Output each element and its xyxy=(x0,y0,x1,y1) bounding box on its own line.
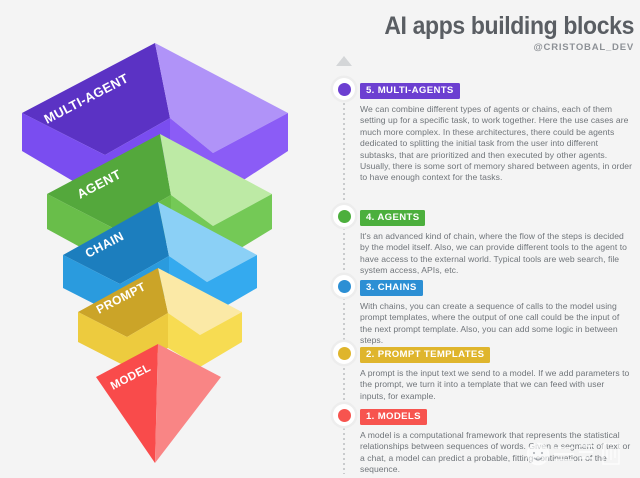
timeline-node-3[interactable] xyxy=(333,275,355,297)
section-badge-models[interactable]: 1. MODELS xyxy=(360,409,427,426)
section-badge-chains[interactable]: 3. CHAINS xyxy=(360,280,423,297)
section-badge-multi-agents[interactable]: 5. MULTI-AGENTS xyxy=(360,83,460,100)
infographic-root: MULTI-AGENT AGENT CHAIN xyxy=(0,0,640,478)
section-chains: 3. CHAINS With chains, you can create a … xyxy=(360,277,632,347)
page-title: AI apps building blocks xyxy=(358,12,634,40)
section-body-prompt-templates: A prompt is the input text we send to a … xyxy=(360,368,632,402)
content-panel: AI apps building blocks @CRISTOBAL_DEV 5… xyxy=(320,0,640,478)
section-body-models: A model is a computational framework tha… xyxy=(360,430,632,476)
section-prompt-templates: 2. PROMPT TEMPLATES A prompt is the inpu… xyxy=(360,344,632,402)
section-agents: 4. AGENTS It's an advanced kind of chain… xyxy=(360,207,632,277)
timeline-node-1[interactable] xyxy=(333,404,355,426)
section-body-multi-agents: We can combine different types of agents… xyxy=(360,104,632,184)
layer-tip-right-face xyxy=(155,344,221,463)
layer-tip-left-face xyxy=(96,344,158,463)
timeline-node-5[interactable] xyxy=(333,78,355,100)
section-badge-agents[interactable]: 4. AGENTS xyxy=(360,210,425,227)
author-handle: @CRISTOBAL_DEV xyxy=(334,42,634,53)
timeline-node-4[interactable] xyxy=(333,205,355,227)
timeline-rail xyxy=(331,56,357,474)
timeline-node-2[interactable] xyxy=(333,342,355,364)
section-body-chains: With chains, you can create a sequence o… xyxy=(360,301,632,347)
section-body-agents: It's an advanced kind of chain, where th… xyxy=(360,231,632,277)
section-multi-agents: 5. MULTI-AGENTS We can combine different… xyxy=(360,80,632,184)
arrow-up-icon xyxy=(336,56,352,66)
pyramid-diagram: MULTI-AGENT AGENT CHAIN xyxy=(0,0,320,478)
section-models: 1. MODELS A model is a computational fra… xyxy=(360,406,632,476)
section-badge-prompt-templates[interactable]: 2. PROMPT TEMPLATES xyxy=(360,347,490,364)
